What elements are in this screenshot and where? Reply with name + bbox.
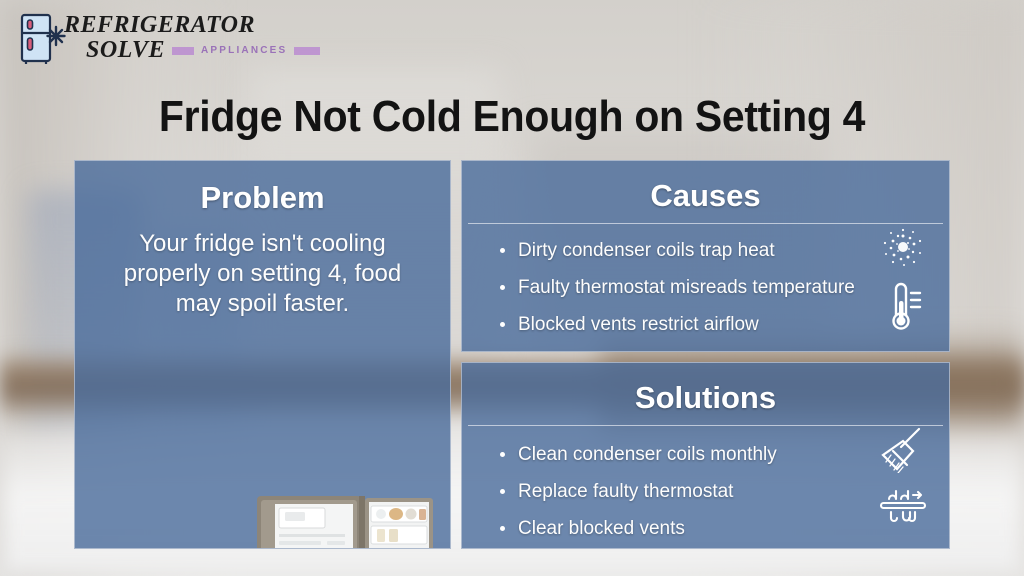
solutions-heading: Solutions <box>468 363 943 426</box>
causes-heading: Causes <box>468 161 943 224</box>
causes-list: Dirty condenser coils trap heat Faulty t… <box>462 240 949 335</box>
brand-logo[interactable]: REFRIGERATOR SOLVE APPLIANCES <box>18 12 320 64</box>
tagline-bar-left <box>172 47 194 55</box>
list-item: Faulty thermostat misreads temperature <box>498 277 829 298</box>
broom-icon <box>879 425 925 473</box>
brand-tagline: APPLIANCES <box>201 38 287 63</box>
problem-heading: Problem <box>75 161 450 215</box>
list-item: Dirty condenser coils trap heat <box>498 240 829 261</box>
solutions-panel: Solutions Clean condenser coils monthly … <box>461 362 950 549</box>
list-item: Replace faulty thermostat <box>498 481 829 502</box>
tagline-bar-right <box>294 47 320 55</box>
list-item: Clear blocked vents <box>498 518 829 539</box>
refrigerator-snowflake-icon <box>18 12 66 64</box>
causes-panel: Causes Dirty condenser coils trap heat F… <box>461 160 950 352</box>
dust-burst-icon <box>879 223 927 271</box>
list-item: Blocked vents restrict airflow <box>498 314 829 335</box>
thermometer-icon <box>883 279 923 331</box>
page-title: Fridge Not Cold Enough on Setting 4 <box>36 92 988 142</box>
airflow-vent-icon <box>877 485 929 527</box>
infographic-slide: REFRIGERATOR SOLVE APPLIANCES Fridge Not… <box>0 0 1024 576</box>
open-refrigerator-photo <box>251 494 443 549</box>
list-item: Clean condenser coils monthly <box>498 444 829 465</box>
problem-body-text: Your fridge isn't cooling properly on se… <box>75 215 450 319</box>
brand-line-2: SOLVE <box>86 38 165 63</box>
brand-line-1: REFRIGERATOR <box>64 13 320 38</box>
solutions-list: Clean condenser coils monthly Replace fa… <box>462 444 949 539</box>
problem-panel: Problem Your fridge isn't cooling proper… <box>74 160 451 549</box>
